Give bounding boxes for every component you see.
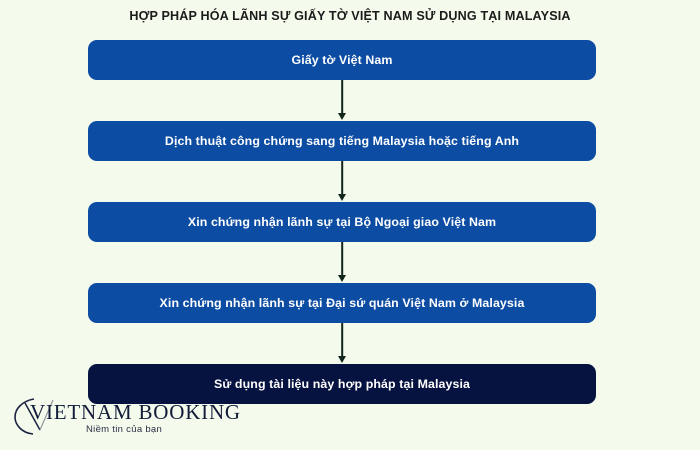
flow-node-4-label: Xin chứng nhận lãnh sự tại Đại sứ quán V… xyxy=(160,296,525,310)
logo-wordmark: VIETNAM BOOKING xyxy=(30,400,241,425)
flow-node-2: Dịch thuật công chứng sang tiếng Malaysi… xyxy=(88,121,596,161)
flow-node-5-label: Sử dụng tài liệu này hợp pháp tại Malays… xyxy=(214,377,470,391)
flow-node-3: Xin chứng nhận lãnh sự tại Bộ Ngoại giao… xyxy=(88,202,596,242)
logo-tagline: Niềm tin của bạn xyxy=(86,424,162,435)
flowchart-page: HỢP PHÁP HÓA LÃNH SỰ GIẤY TỜ VIỆT NAM SỬ… xyxy=(0,0,700,450)
arrowhead-down-icon xyxy=(338,356,346,363)
flow-node-2-label: Dịch thuật công chứng sang tiếng Malaysi… xyxy=(165,134,519,148)
arrowhead-down-icon xyxy=(338,113,346,120)
flow-connector-3-4 xyxy=(88,242,596,283)
flow-connector-1-2 xyxy=(88,80,596,121)
flow-node-1: Giấy tờ Việt Nam xyxy=(88,40,596,80)
page-title: HỢP PHÁP HÓA LÃNH SỰ GIẤY TỜ VIỆT NAM SỬ… xyxy=(0,9,700,23)
flow-connector-4-5 xyxy=(88,323,596,364)
flow-node-4: Xin chứng nhận lãnh sự tại Đại sứ quán V… xyxy=(88,283,596,323)
flow-connector-2-3 xyxy=(88,161,596,202)
connector-stem xyxy=(341,80,343,114)
connector-stem xyxy=(341,323,343,357)
arrowhead-down-icon xyxy=(338,275,346,282)
flow-node-3-label: Xin chứng nhận lãnh sự tại Bộ Ngoại giao… xyxy=(188,215,496,229)
connector-stem xyxy=(341,161,343,195)
connector-stem xyxy=(341,242,343,276)
flow-node-1-label: Giấy tờ Việt Nam xyxy=(291,53,392,67)
flowchart-container: Giấy tờ Việt Nam Dịch thuật công chứng s… xyxy=(88,40,596,404)
arrowhead-down-icon xyxy=(338,194,346,201)
brand-logo: VIETNAM BOOKING Niềm tin của bạn xyxy=(8,394,188,442)
